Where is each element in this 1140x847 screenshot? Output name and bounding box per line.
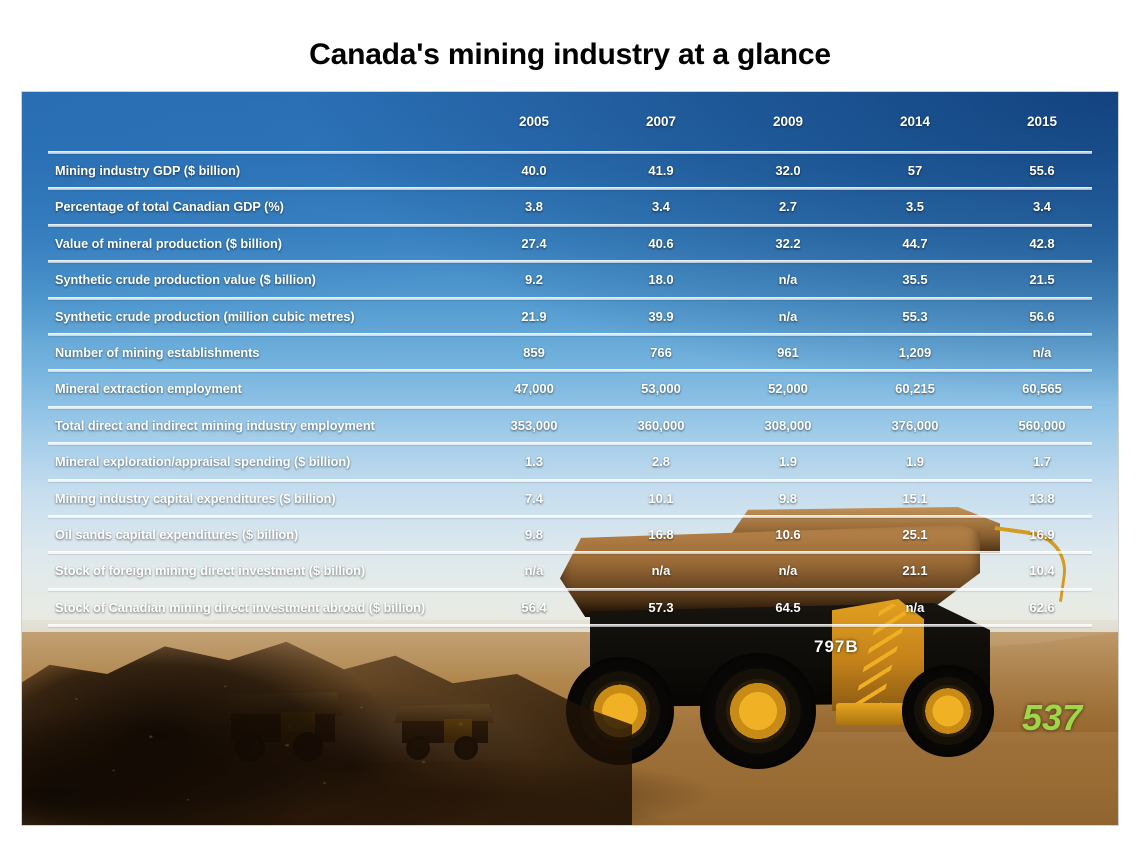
table-cell: n/a [855, 590, 975, 626]
table-cell: 961 [728, 335, 848, 371]
table-cell: 60,565 [982, 371, 1102, 407]
table-cell: 21.9 [474, 299, 594, 335]
table-cell: 376,000 [855, 408, 975, 444]
table-header-row: 20052007200920142015 [22, 114, 1118, 144]
table-cell: 52,000 [728, 371, 848, 407]
row-label: Mining industry capital expenditures ($ … [55, 481, 336, 517]
table-cell: 9.2 [474, 262, 594, 298]
table-cell: 55.6 [982, 153, 1102, 189]
table-cell: 60,215 [855, 371, 975, 407]
row-label: Stock of foreign mining direct investmen… [55, 553, 365, 589]
row-label: Percentage of total Canadian GDP (%) [55, 189, 284, 225]
table-cell: 10.6 [728, 517, 848, 553]
table-cell: 21.5 [982, 262, 1102, 298]
table-cell: 3.5 [855, 189, 975, 225]
table-row: Mining industry capital expenditures ($ … [22, 481, 1118, 517]
infographic-panel: 521 797B 537 20052007200920142015 Mining… [22, 92, 1118, 825]
column-header-2005: 2005 [474, 114, 594, 129]
column-header-2009: 2009 [728, 114, 848, 129]
table-cell: 53,000 [601, 371, 721, 407]
row-label: Mineral exploration/appraisal spending (… [55, 444, 350, 480]
table-cell: 10.1 [601, 481, 721, 517]
column-header-2015: 2015 [982, 114, 1102, 129]
table-row: Stock of Canadian mining direct investme… [22, 590, 1118, 626]
table-cell: n/a [728, 553, 848, 589]
table-cell: 39.9 [601, 299, 721, 335]
table-cell: 44.7 [855, 226, 975, 262]
row-label: Synthetic crude production (million cubi… [55, 299, 355, 335]
table-cell: 16.8 [601, 517, 721, 553]
table-cell: n/a [728, 262, 848, 298]
table-cell: 21.1 [855, 553, 975, 589]
table-cell: 3.4 [601, 189, 721, 225]
table-cell: 3.8 [474, 189, 594, 225]
table-cell: 57.3 [601, 590, 721, 626]
table-cell: 25.1 [855, 517, 975, 553]
table-row: Mineral exploration/appraisal spending (… [22, 444, 1118, 480]
row-label: Number of mining establishments [55, 335, 259, 371]
table-cell: 1,209 [855, 335, 975, 371]
table-row: Stock of foreign mining direct investmen… [22, 553, 1118, 589]
table-cell: 32.2 [728, 226, 848, 262]
table-cell: 2.7 [728, 189, 848, 225]
table-cell: 10.4 [982, 553, 1102, 589]
table-cell: 13.8 [982, 481, 1102, 517]
table-cell: 560,000 [982, 408, 1102, 444]
table-cell: 62.6 [982, 590, 1102, 626]
table-row: Mining industry GDP ($ billion)40.041.93… [22, 153, 1118, 189]
row-label: Mining industry GDP ($ billion) [55, 153, 240, 189]
table-row: Value of mineral production ($ billion)2… [22, 226, 1118, 262]
row-label: Synthetic crude production value ($ bill… [55, 262, 316, 298]
table-cell: 40.6 [601, 226, 721, 262]
row-label: Value of mineral production ($ billion) [55, 226, 282, 262]
table-cell: 2.8 [601, 444, 721, 480]
table-cell: 3.4 [982, 189, 1102, 225]
table-cell: 859 [474, 335, 594, 371]
table-cell: n/a [601, 553, 721, 589]
table-row: Percentage of total Canadian GDP (%)3.83… [22, 189, 1118, 225]
table-row: Synthetic crude production (million cubi… [22, 299, 1118, 335]
table-cell: 57 [855, 153, 975, 189]
table-row: Number of mining establishments859766961… [22, 335, 1118, 371]
table-cell: 32.0 [728, 153, 848, 189]
table-cell: 56.6 [982, 299, 1102, 335]
table-cell: 41.9 [601, 153, 721, 189]
table-cell: 360,000 [601, 408, 721, 444]
table-cell: 1.9 [855, 444, 975, 480]
table-cell: 15.1 [855, 481, 975, 517]
table-cell: 9.8 [474, 517, 594, 553]
page-title: Canada's mining industry at a glance [0, 38, 1140, 72]
table-cell: 42.8 [982, 226, 1102, 262]
column-header-2014: 2014 [855, 114, 975, 129]
row-label: Stock of Canadian mining direct investme… [55, 590, 425, 626]
table-row: Mineral extraction employment47,00053,00… [22, 371, 1118, 407]
table-cell: n/a [982, 335, 1102, 371]
table-row: Synthetic crude production value ($ bill… [22, 262, 1118, 298]
table-cell: n/a [728, 299, 848, 335]
row-label: Oil sands capital expenditures ($ billio… [55, 517, 298, 553]
table-cell: 18.0 [601, 262, 721, 298]
row-label: Total direct and indirect mining industr… [55, 408, 375, 444]
table-row: Oil sands capital expenditures ($ billio… [22, 517, 1118, 553]
stats-table: 20052007200920142015 Mining industry GDP… [22, 92, 1118, 825]
table-cell: 64.5 [728, 590, 848, 626]
table-cell: 1.3 [474, 444, 594, 480]
table-cell: 56.4 [474, 590, 594, 626]
table-cell: 1.7 [982, 444, 1102, 480]
table-cell: n/a [474, 553, 594, 589]
table-cell: 766 [601, 335, 721, 371]
row-label: Mineral extraction employment [55, 371, 242, 407]
table-cell: 16.9 [982, 517, 1102, 553]
table-cell: 1.9 [728, 444, 848, 480]
table-cell: 308,000 [728, 408, 848, 444]
table-cell: 353,000 [474, 408, 594, 444]
table-cell: 40.0 [474, 153, 594, 189]
table-cell: 7.4 [474, 481, 594, 517]
row-divider [48, 624, 1092, 627]
table-cell: 35.5 [855, 262, 975, 298]
table-cell: 47,000 [474, 371, 594, 407]
table-cell: 55.3 [855, 299, 975, 335]
table-cell: 9.8 [728, 481, 848, 517]
table-row: Total direct and indirect mining industr… [22, 408, 1118, 444]
table-cell: 27.4 [474, 226, 594, 262]
column-header-2007: 2007 [601, 114, 721, 129]
